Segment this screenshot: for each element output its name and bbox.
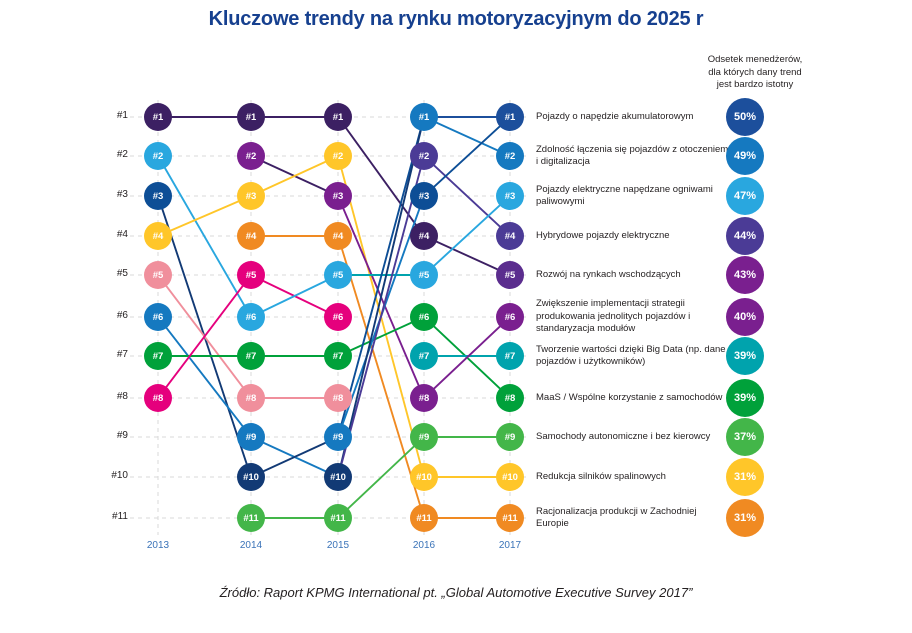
rank-node-2013-5[interactable]: #5 bbox=[144, 261, 172, 289]
rank-node-2014-9[interactable]: #9 bbox=[237, 423, 265, 451]
y-axis-tick-4: #4 bbox=[92, 229, 128, 240]
trend-label-9: Samochody autonomiczne i bez kierowcy bbox=[536, 431, 731, 444]
rank-node-2013-7[interactable]: #7 bbox=[144, 342, 172, 370]
rank-node-2015-1[interactable]: #1 bbox=[324, 103, 352, 131]
trend-label-10: Redukcja silników spalinowych bbox=[536, 471, 731, 484]
rank-node-2017-11[interactable]: #11 bbox=[496, 504, 524, 532]
trend-label-5: Rozwój na rynkach wschodzących bbox=[536, 269, 731, 282]
y-axis-tick-9: #9 bbox=[92, 430, 128, 441]
y-axis-tick-3: #3 bbox=[92, 189, 128, 200]
trend-label-6: Zwiększenie implementacji strategii prod… bbox=[536, 298, 731, 336]
percentage-badge-3[interactable]: 47% bbox=[726, 177, 764, 215]
rank-node-2013-3[interactable]: #3 bbox=[144, 182, 172, 210]
rank-node-2017-6[interactable]: #6 bbox=[496, 303, 524, 331]
y-axis-tick-6: #6 bbox=[92, 310, 128, 321]
rank-node-2013-4[interactable]: #4 bbox=[144, 222, 172, 250]
rank-node-2014-10[interactable]: #10 bbox=[237, 463, 265, 491]
rank-node-2015-6[interactable]: #6 bbox=[324, 303, 352, 331]
rank-node-2014-1[interactable]: #1 bbox=[237, 103, 265, 131]
rank-node-2017-3[interactable]: #3 bbox=[496, 182, 524, 210]
percentage-badge-10[interactable]: 31% bbox=[726, 458, 764, 496]
x-axis-tick-2016[interactable]: 2016 bbox=[394, 540, 454, 551]
y-axis-tick-1: #1 bbox=[92, 110, 128, 121]
rank-node-2017-4[interactable]: #4 bbox=[496, 222, 524, 250]
rank-node-2017-10[interactable]: #10 bbox=[496, 463, 524, 491]
rank-node-2016-1[interactable]: #1 bbox=[410, 103, 438, 131]
trend-label-2: Zdolność łączenia się pojazdów z otoczen… bbox=[536, 144, 731, 169]
connector-line bbox=[167, 328, 243, 426]
rank-node-2016-10[interactable]: #10 bbox=[410, 463, 438, 491]
rank-node-2016-7[interactable]: #7 bbox=[410, 342, 438, 370]
rank-node-2014-5[interactable]: #5 bbox=[237, 261, 265, 289]
y-axis-tick-11: #11 bbox=[92, 511, 128, 522]
rank-node-2015-3[interactable]: #3 bbox=[324, 182, 352, 210]
rank-node-2015-4[interactable]: #4 bbox=[324, 222, 352, 250]
rank-node-2014-11[interactable]: #11 bbox=[237, 504, 265, 532]
y-axis-tick-7: #7 bbox=[92, 349, 128, 360]
x-axis-tick-2017[interactable]: 2017 bbox=[480, 540, 540, 551]
trend-label-1: Pojazdy o napędzie akumulatorowym bbox=[536, 111, 731, 124]
chart-canvas: Kluczowe trendy na rynku motoryzacyjnym … bbox=[0, 0, 912, 633]
x-axis-tick-2015[interactable]: 2015 bbox=[308, 540, 368, 551]
percentage-badge-4[interactable]: 44% bbox=[726, 217, 764, 255]
rank-node-2016-11[interactable]: #11 bbox=[410, 504, 438, 532]
percentage-badge-2[interactable]: 49% bbox=[726, 137, 764, 175]
rank-node-2017-9[interactable]: #9 bbox=[496, 423, 524, 451]
rank-node-2016-2[interactable]: #2 bbox=[410, 142, 438, 170]
rank-node-2013-6[interactable]: #6 bbox=[144, 303, 172, 331]
rank-node-2016-8[interactable]: #8 bbox=[410, 384, 438, 412]
percentage-badge-5[interactable]: 43% bbox=[726, 256, 764, 294]
rank-node-2017-7[interactable]: #7 bbox=[496, 342, 524, 370]
rank-node-2017-2[interactable]: #2 bbox=[496, 142, 524, 170]
rank-node-2014-6[interactable]: #6 bbox=[237, 303, 265, 331]
rank-node-2015-2[interactable]: #2 bbox=[324, 142, 352, 170]
rank-node-2015-11[interactable]: #11 bbox=[324, 504, 352, 532]
percentage-badge-6[interactable]: 40% bbox=[726, 298, 764, 336]
rank-node-2014-8[interactable]: #8 bbox=[237, 384, 265, 412]
rank-node-2013-2[interactable]: #2 bbox=[144, 142, 172, 170]
rank-node-2014-4[interactable]: #4 bbox=[237, 222, 265, 250]
percentage-badge-9[interactable]: 37% bbox=[726, 418, 764, 456]
rank-node-2015-8[interactable]: #8 bbox=[324, 384, 352, 412]
connector-line bbox=[346, 128, 416, 224]
connector-line bbox=[165, 168, 244, 305]
percentage-badge-11[interactable]: 31% bbox=[726, 499, 764, 537]
y-axis-tick-10: #10 bbox=[92, 470, 128, 481]
rank-node-2014-2[interactable]: #2 bbox=[237, 142, 265, 170]
rank-node-2017-8[interactable]: #8 bbox=[496, 384, 524, 412]
connector-line bbox=[341, 131, 420, 464]
trend-label-3: Pojazdy elektryczne napędzane ogniwami p… bbox=[536, 184, 731, 209]
source-note: Źródło: Raport KPMG International pt. „G… bbox=[0, 585, 912, 600]
x-axis-tick-2014[interactable]: 2014 bbox=[221, 540, 281, 551]
trend-label-8: MaaS / Wspólne korzystanie z samochodów bbox=[536, 392, 731, 405]
trend-label-7: Tworzenie wartości dzięki Big Data (np. … bbox=[536, 344, 731, 369]
rank-node-2015-10[interactable]: #10 bbox=[324, 463, 352, 491]
rank-line-plot bbox=[0, 0, 912, 633]
rank-node-2017-1[interactable]: #1 bbox=[496, 103, 524, 131]
trend-label-11: Racjonalizacja produkcji w Zachodniej Eu… bbox=[536, 506, 731, 531]
rank-node-2016-5[interactable]: #5 bbox=[410, 261, 438, 289]
rank-node-2015-9[interactable]: #9 bbox=[324, 423, 352, 451]
rank-node-2013-8[interactable]: #8 bbox=[144, 384, 172, 412]
rank-node-2016-4[interactable]: #4 bbox=[410, 222, 438, 250]
y-axis-tick-8: #8 bbox=[92, 391, 128, 402]
rank-node-2013-1[interactable]: #1 bbox=[144, 103, 172, 131]
percentage-badge-7[interactable]: 39% bbox=[726, 337, 764, 375]
percentage-badge-1[interactable]: 50% bbox=[726, 98, 764, 136]
rank-node-2014-3[interactable]: #3 bbox=[237, 182, 265, 210]
connector-line bbox=[171, 202, 238, 231]
percentage-badge-8[interactable]: 39% bbox=[726, 379, 764, 417]
y-axis-tick-5: #5 bbox=[92, 268, 128, 279]
y-axis-tick-2: #2 bbox=[92, 149, 128, 160]
x-axis-tick-2013[interactable]: 2013 bbox=[128, 540, 188, 551]
rank-node-2015-7[interactable]: #7 bbox=[324, 342, 352, 370]
rank-node-2016-3[interactable]: #3 bbox=[410, 182, 438, 210]
rank-node-2017-5[interactable]: #5 bbox=[496, 261, 524, 289]
rank-node-2014-7[interactable]: #7 bbox=[237, 342, 265, 370]
trend-label-4: Hybrydowe pojazdy elektryczne bbox=[536, 230, 731, 243]
rank-node-2016-6[interactable]: #6 bbox=[410, 303, 438, 331]
rank-node-2016-9[interactable]: #9 bbox=[410, 423, 438, 451]
rank-node-2015-5[interactable]: #5 bbox=[324, 261, 352, 289]
